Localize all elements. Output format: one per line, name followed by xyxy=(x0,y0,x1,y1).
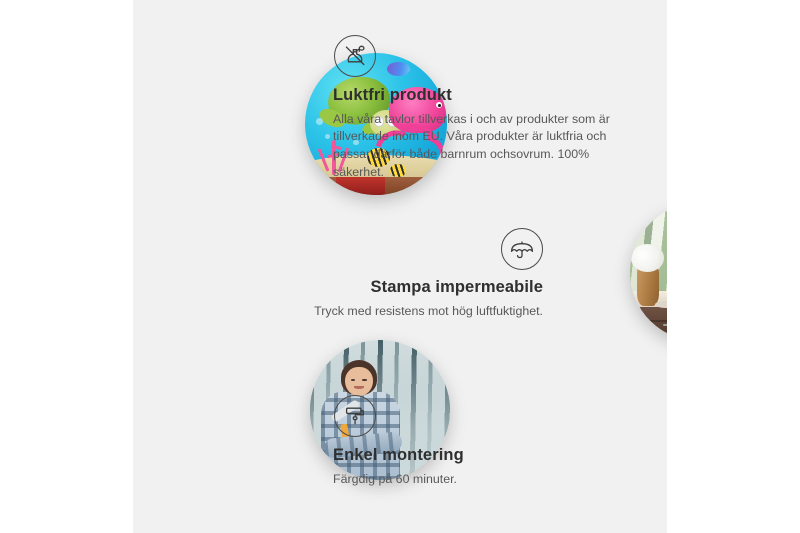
infographic-canvas: Luktfri produkt Alla våra tavlor tillver… xyxy=(0,0,800,533)
feature-waterproof: Stampa impermeabile Tryck med resistens … xyxy=(213,228,543,320)
feature-odourless-body: Alla våra tavlor tillverkas i och av pro… xyxy=(333,111,638,181)
feature-easy-mounting-icon-wrap xyxy=(333,395,633,437)
feature-easy-mounting: Enkel montering Färgdig på 60 minuter. xyxy=(333,395,633,488)
feature-easy-mounting-title: Enkel montering xyxy=(333,446,633,466)
no-fragrance-icon xyxy=(334,35,376,77)
feature-easy-mounting-body: Färgdig på 60 minuter. xyxy=(333,471,633,489)
person-face-shape xyxy=(345,367,373,396)
bubble-shape xyxy=(316,118,323,125)
paint-roller-icon xyxy=(334,395,376,437)
bubble-shape xyxy=(325,134,330,139)
umbrella-icon xyxy=(501,228,543,270)
feature-waterproof-icon-wrap xyxy=(213,228,543,270)
content-panel: Luktfri produkt Alla våra tavlor tillver… xyxy=(133,0,667,533)
feature-waterproof-title: Stampa impermeabile xyxy=(213,278,543,298)
feature-odourless-title: Luktfri produkt xyxy=(333,86,638,106)
feature-odourless: Luktfri produkt Alla våra tavlor tillver… xyxy=(333,35,638,181)
feature-waterproof-body: Tryck med resistens mot hög luftfuktighe… xyxy=(213,303,543,321)
wood-vanity-shape xyxy=(630,307,667,342)
bathroom-wallpaper-photo xyxy=(630,203,667,341)
feature-odourless-icon-wrap xyxy=(333,35,638,77)
